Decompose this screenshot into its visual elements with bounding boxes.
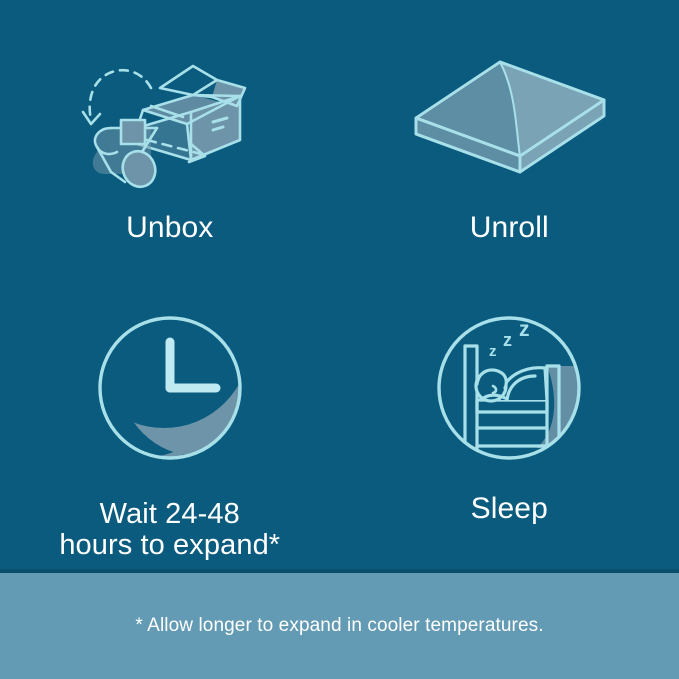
instruction-infographic: Unbox <box>0 0 679 679</box>
step-unroll: Unroll <box>340 0 679 286</box>
step-label-unroll: Unroll <box>470 212 549 244</box>
footer-note-bar: * Allow longer to expand in cooler tempe… <box>0 573 679 679</box>
flat-mattress-icon <box>404 44 614 194</box>
z-small: z <box>489 343 497 360</box>
clock-icon <box>90 308 250 468</box>
footer-note-text: * Allow longer to expand in cooler tempe… <box>135 615 543 637</box>
unbox-artwork <box>60 44 280 194</box>
sleep-artwork: z z z <box>422 300 597 475</box>
step-unbox: Unbox <box>0 0 340 286</box>
unroll-artwork <box>399 44 619 194</box>
step-label-sleep: Sleep <box>471 493 548 525</box>
steps-grid: Unbox <box>0 0 679 572</box>
wait-artwork <box>82 300 257 475</box>
z-medium: z <box>503 330 512 350</box>
step-wait: Wait 24-48 hours to expand* <box>0 286 340 572</box>
step-label-wait: Wait 24-48 hours to expand* <box>59 499 280 560</box>
step-sleep: z z z Sleep <box>340 286 679 572</box>
step-label-unbox: Unbox <box>126 212 213 244</box>
person-sleeping-in-bed-icon: z z z <box>429 308 589 468</box>
open-box-with-rolled-mattress-icon <box>65 44 275 194</box>
